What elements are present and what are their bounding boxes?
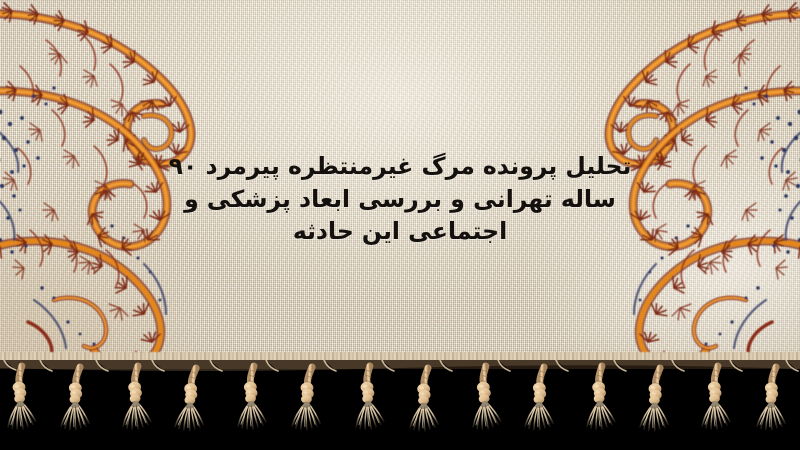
fringe-svg [0,360,800,450]
title-line-2: ساله تهرانی و بررسی ابعاد پزشکی و [0,183,800,216]
slide-title: تحلیل پرونده مرگ غیرمنتظره پیرمرد ۹۰ سال… [0,150,800,248]
title-line-3: اجتماعی این حادثه [0,215,800,248]
title-line-1: تحلیل پرونده مرگ غیرمنتظره پیرمرد ۹۰ [0,150,800,183]
knotted-tassel-fringe [0,360,800,450]
slide-canvas: تحلیل پرونده مرگ غیرمنتظره پیرمرد ۹۰ سال… [0,0,800,450]
